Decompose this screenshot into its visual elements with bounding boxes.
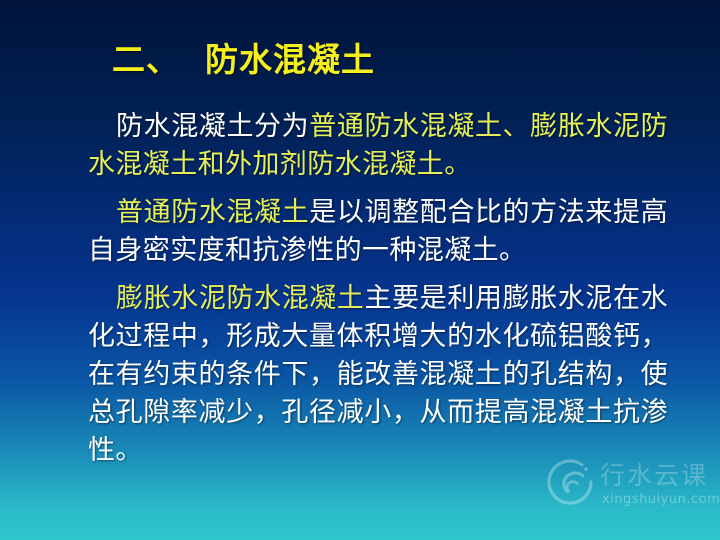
slide-body: 防水混凝土分为普通防水混凝土、膨胀水泥防水混凝土和外加剂防水混凝土。 普通防水混…	[88, 108, 668, 470]
paragraph-3-run-1-highlight: 膨胀水泥防水混凝土	[116, 283, 365, 314]
title-block: 二、 防水混凝土	[112, 38, 672, 82]
page-title: 二、 防水混凝土	[112, 38, 672, 82]
paragraph-2: 普通防水混凝土是以调整配合比的方法来提高自身密实度和抗渗性的一种混凝土。	[88, 194, 668, 270]
paragraph-2-run-1-highlight: 普通防水混凝土	[116, 197, 309, 228]
slide-canvas: 二、 防水混凝土 防水混凝土分为普通防水混凝土、膨胀水泥防水混凝土和外加剂防水混…	[0, 0, 720, 540]
paragraph-1: 防水混凝土分为普通防水混凝土、膨胀水泥防水混凝土和外加剂防水混凝土。	[88, 108, 668, 184]
paragraph-3: 膨胀水泥防水混凝土主要是利用膨胀水泥在水化过程中，形成大量体积增大的水化硫铝酸钙…	[88, 280, 668, 470]
paragraph-1-run-1: 防水混凝土分为	[116, 111, 309, 142]
watermark-url: xingshuiyun.com	[602, 492, 720, 507]
